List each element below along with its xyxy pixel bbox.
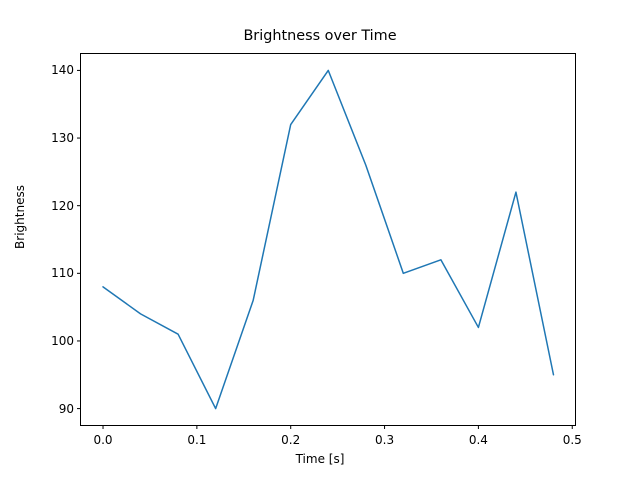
y-axis-tick-label: 100 <box>20 334 74 348</box>
y-axis-label: Brightness <box>13 137 27 297</box>
x-axis-tick-label: 0.1 <box>187 433 206 447</box>
x-axis-tick-marks <box>103 426 572 430</box>
y-axis-tick-label: 140 <box>20 63 74 77</box>
y-axis-tick-label: 120 <box>20 199 74 213</box>
x-axis-tick-label: 0.2 <box>281 433 300 447</box>
x-axis-tick-label: 0.3 <box>375 433 394 447</box>
matplotlib-figure: Brightness over Time 90100110120130140 0… <box>0 0 640 480</box>
x-axis-tick-label: 0.0 <box>93 433 112 447</box>
y-axis-tick-label: 110 <box>20 266 74 280</box>
page-title: Brightness over Time <box>0 28 640 44</box>
x-axis-label: Time [s] <box>0 452 640 466</box>
x-axis-tick-label: 0.5 <box>563 433 582 447</box>
y-axis-tick-label: 130 <box>20 131 74 145</box>
x-axis-tick-label: 0.4 <box>469 433 488 447</box>
y-axis-tick-label: 90 <box>20 402 74 416</box>
plot-axes-frame <box>80 53 576 426</box>
